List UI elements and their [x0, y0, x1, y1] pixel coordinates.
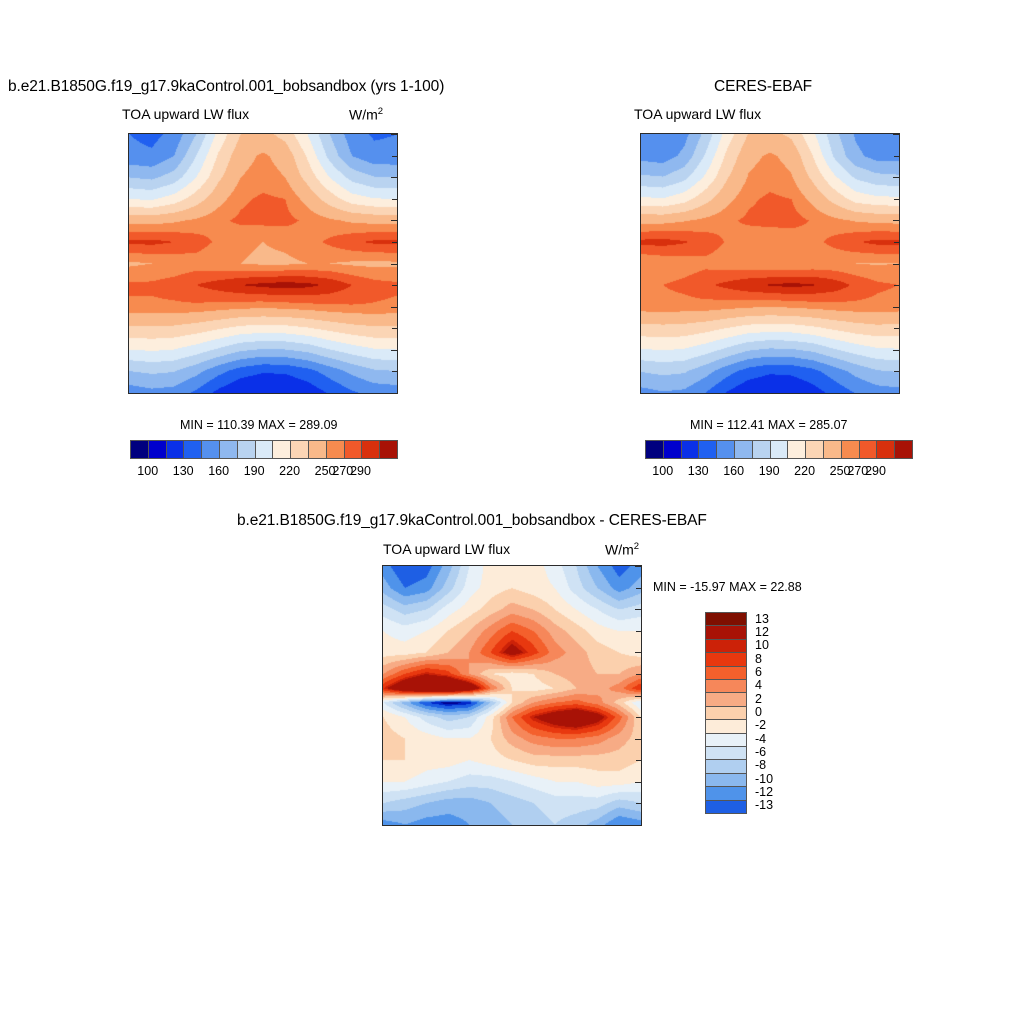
panel-obs-xtick-mark-top — [749, 133, 750, 134]
panel-difference-xtick-mark-top — [426, 565, 427, 566]
panel-obs-ytick-mark — [640, 393, 641, 394]
panel-model-xtick-mark — [151, 393, 152, 394]
panel-model-colorbar-swatch — [220, 441, 238, 458]
panel-obs-plot: 90N60N30N030S60S90SJFMAMJJASONDJ — [640, 133, 900, 394]
panel-model-colorbar-tick-label: 160 — [208, 464, 229, 478]
panel-difference-minmax: MIN = -15.97 MAX = 22.88 — [653, 580, 802, 594]
panel-model-ytick-minor-right — [392, 242, 397, 243]
panel-model-xtick-mark-top — [308, 133, 309, 134]
panel-difference-xtick-mark-top — [491, 565, 492, 566]
panel-obs-colorbar-swatch — [771, 441, 789, 458]
panel-obs-colorbar-tick-label: 160 — [723, 464, 744, 478]
panel-model-colorbar-swatch — [273, 441, 291, 458]
panel-obs-title: CERES-EBAF — [714, 78, 812, 96]
panel-model-contour-field — [129, 134, 397, 393]
panel-difference-title: b.e21.B1850G.f19_g17.9kaControl.001_bobs… — [237, 512, 707, 530]
panel-model-colorbar-tick-label: 290 — [350, 464, 371, 478]
panel-obs-contour-field — [641, 134, 899, 393]
difference-colorbar-tick-label: -8 — [755, 758, 766, 772]
difference-colorbar-tick-label: -12 — [755, 785, 773, 799]
panel-difference-xtick-mark — [555, 825, 556, 826]
difference-colorbar-tick-label: 10 — [755, 638, 769, 652]
panel-model-ytick-minor — [128, 328, 129, 329]
panel-model-ytick-mark — [128, 264, 129, 265]
panel-model-ytick-minor — [128, 242, 129, 243]
panel-model-minmax: MIN = 110.39 MAX = 289.09 — [180, 418, 338, 432]
difference-colorbar-tick-label: 4 — [755, 678, 762, 692]
panel-difference-ytick-minor — [382, 631, 383, 632]
panel-difference-xtick-mark-top — [620, 565, 621, 566]
panel-obs-colorbar-swatch — [664, 441, 682, 458]
panel-obs-ytick-minor-right — [894, 156, 899, 157]
panel-obs-xtick-mark — [706, 393, 707, 394]
panel-obs-xtick-mark-top — [727, 133, 728, 134]
difference-colorbar-swatch — [706, 707, 746, 720]
panel-obs-colorbar-swatch — [735, 441, 753, 458]
panel-model-plot: 90N60N30N030S60S90SJFMAMJJASONDJ — [128, 133, 398, 394]
panel-model-xtick-mark — [218, 393, 219, 394]
panel-model-colorbar — [130, 440, 398, 459]
panel-obs-colorbar-swatch — [699, 441, 717, 458]
panel-difference-xtick-mark-top — [469, 565, 470, 566]
difference-colorbar-swatch — [706, 801, 746, 813]
panel-obs-xtick-mark-top — [792, 133, 793, 134]
panel-obs-xtick-mark — [899, 393, 900, 394]
difference-colorbar-tick-label: -6 — [755, 745, 766, 759]
panel-difference-xtick-mark — [512, 825, 513, 826]
panel-model-xtick-mark — [263, 393, 264, 394]
panel-obs-ytick-minor-right — [894, 199, 899, 200]
panel-obs-colorbar-swatch — [646, 441, 664, 458]
difference-colorbar-tick-label: 6 — [755, 665, 762, 679]
panel-obs-colorbar-tick-label: 290 — [865, 464, 886, 478]
panel-model-ytick-minor — [128, 285, 129, 286]
panel-difference-ytick-mark-right — [635, 782, 641, 783]
panel-model-xtick-mark — [375, 393, 376, 394]
panel-obs-ytick-mark-right — [893, 134, 899, 135]
panel-difference-ytick-mark-right — [635, 566, 641, 567]
panel-obs-ytick-minor-right — [894, 328, 899, 329]
panel-model-xtick-mark — [129, 393, 130, 394]
panel-obs-xtick-mark — [727, 393, 728, 394]
panel-model-units-label: W/m2 — [349, 106, 383, 123]
panel-obs-ytick-minor — [640, 328, 641, 329]
difference-colorbar-swatch — [706, 760, 746, 773]
panel-difference-ytick-minor-right — [636, 803, 641, 804]
panel-obs-colorbar-swatch — [717, 441, 735, 458]
panel-obs-ytick-mark — [640, 350, 641, 351]
panel-model-colorbar-swatch — [184, 441, 202, 458]
panel-model-xtick-mark-top — [241, 133, 242, 134]
panel-obs-xtick-mark — [770, 393, 771, 394]
panel-difference-ytick-minor — [382, 717, 383, 718]
panel-difference-ytick-minor-right — [636, 717, 641, 718]
panel-difference-xtick-mark-top — [383, 565, 384, 566]
panel-difference-ytick-minor-right — [636, 674, 641, 675]
panel-difference-ytick-mark-right — [635, 825, 641, 826]
panel-model-xtick-mark-top — [151, 133, 152, 134]
panel-difference-ytick-mark — [382, 652, 383, 653]
panel-obs-xtick-mark — [749, 393, 750, 394]
panel-difference-xtick-mark-top — [577, 565, 578, 566]
difference-colorbar-swatch — [706, 626, 746, 639]
panel-model-ytick-minor — [128, 371, 129, 372]
panel-obs-xtick-mark-top — [856, 133, 857, 134]
panel-obs-ytick-minor — [640, 242, 641, 243]
panel-model-ytick-mark-right — [391, 350, 397, 351]
panel-model-colorbar-swatch — [362, 441, 380, 458]
panel-model-xtick-mark-top — [397, 133, 398, 134]
panel-model-colorbar-swatch — [309, 441, 327, 458]
panel-model-ytick-mark — [128, 350, 129, 351]
panel-obs-ytick-mark — [640, 264, 641, 265]
panel-model-xtick-mark — [241, 393, 242, 394]
panel-difference-ytick-mark — [382, 739, 383, 740]
difference-colorbar-swatch — [706, 774, 746, 787]
panel-difference-xtick-mark-top — [598, 565, 599, 566]
panel-difference-xtick-mark — [641, 825, 642, 826]
panel-model-ytick-mark-right — [391, 177, 397, 178]
panel-obs-ytick-mark-right — [893, 264, 899, 265]
difference-colorbar-swatch — [706, 693, 746, 706]
panel-difference-ytick-mark — [382, 825, 383, 826]
panel-obs-colorbar-swatch — [824, 441, 842, 458]
panel-obs-ytick-mark — [640, 220, 641, 221]
panel-obs-ytick-mark — [640, 177, 641, 178]
difference-colorbar-swatch — [706, 653, 746, 666]
panel-model-ytick-mark — [128, 307, 129, 308]
panel-difference-xtick-mark — [426, 825, 427, 826]
panel-model-ytick-minor-right — [392, 285, 397, 286]
difference-colorbar-swatch — [706, 734, 746, 747]
panel-obs-colorbar-swatch — [842, 441, 860, 458]
panel-difference-ytick-mark — [382, 566, 383, 567]
panel-difference-units-label: W/m2 — [605, 541, 639, 558]
panel-difference-colorbar — [705, 612, 747, 814]
difference-colorbar-tick-label: 8 — [755, 652, 762, 666]
difference-colorbar-swatch — [706, 720, 746, 733]
panel-difference-xtick-mark — [534, 825, 535, 826]
panel-obs-colorbar-tick-label: 100 — [652, 464, 673, 478]
panel-model-xtick-mark — [174, 393, 175, 394]
difference-colorbar-tick-label: 12 — [755, 625, 769, 639]
panel-obs-xtick-mark-top — [706, 133, 707, 134]
panel-difference-xtick-mark-top — [448, 565, 449, 566]
panel-model-colorbar-tick-label: 190 — [244, 464, 265, 478]
panel-model-ytick-mark — [128, 393, 129, 394]
panel-model-ytick-mark-right — [391, 264, 397, 265]
panel-model-xtick-mark-top — [330, 133, 331, 134]
panel-difference-ytick-mark-right — [635, 652, 641, 653]
panel-obs-colorbar-tick-label: 220 — [794, 464, 815, 478]
panel-model-title: b.e21.B1850G.f19_g17.9kaControl.001_bobs… — [8, 78, 444, 96]
panel-model-ytick-mark-right — [391, 220, 397, 221]
panel-difference-xtick-mark-top — [641, 565, 642, 566]
panel-difference-xtick-mark — [448, 825, 449, 826]
panel-model-ytick-mark — [128, 220, 129, 221]
panel-model-xtick-mark-top — [196, 133, 197, 134]
panel-obs-colorbar-swatch — [682, 441, 700, 458]
panel-model-xtick-mark-top — [129, 133, 130, 134]
panel-model-ytick-minor — [128, 199, 129, 200]
panel-difference-ytick-minor — [382, 588, 383, 589]
panel-obs-xtick-mark — [813, 393, 814, 394]
panel-difference-xtick-mark — [469, 825, 470, 826]
panel-obs-xtick-mark-top — [641, 133, 642, 134]
panel-model-ytick-mark-right — [391, 307, 397, 308]
panel-obs-colorbar-swatch — [895, 441, 912, 458]
panel-obs-ytick-mark-right — [893, 307, 899, 308]
panel-obs-ytick-minor-right — [894, 242, 899, 243]
difference-colorbar-tick-label: -4 — [755, 732, 766, 746]
panel-model-xtick-mark-top — [285, 133, 286, 134]
panel-model-xtick-mark-top — [263, 133, 264, 134]
panel-obs-xtick-mark — [792, 393, 793, 394]
panel-difference-ytick-mark-right — [635, 739, 641, 740]
panel-model-colorbar-swatch — [327, 441, 345, 458]
panel-obs-ytick-mark-right — [893, 350, 899, 351]
panel-model-ytick-minor-right — [392, 156, 397, 157]
panel-model-ytick-mark-right — [391, 393, 397, 394]
panel-model-xtick-mark — [397, 393, 398, 394]
panel-model-ytick-mark-right — [391, 134, 397, 135]
panel-model-ytick-minor-right — [392, 199, 397, 200]
panel-obs-ytick-minor-right — [894, 285, 899, 286]
panel-model-xtick-mark — [330, 393, 331, 394]
panel-obs-colorbar-tick-label: 130 — [688, 464, 709, 478]
panel-model-colorbar-swatch — [238, 441, 256, 458]
panel-model-xtick-mark — [308, 393, 309, 394]
panel-model-ytick-minor — [128, 156, 129, 157]
panel-obs-ytick-mark — [640, 134, 641, 135]
panel-model-colorbar-swatch — [167, 441, 185, 458]
panel-difference-ytick-minor — [382, 674, 383, 675]
panel-obs-ytick-minor-right — [894, 371, 899, 372]
panel-difference-ytick-minor-right — [636, 588, 641, 589]
panel-difference-plot: 90N60N30N030S60S90SJFMAMJJASONDJ — [382, 565, 642, 826]
panel-obs-ytick-minor — [640, 199, 641, 200]
panel-model-ytick-mark — [128, 134, 129, 135]
panel-obs-xtick-mark — [878, 393, 879, 394]
panel-obs-ytick-mark-right — [893, 220, 899, 221]
difference-colorbar-tick-label: 2 — [755, 692, 762, 706]
panel-obs-minmax: MIN = 112.41 MAX = 285.07 — [690, 418, 848, 432]
panel-obs-colorbar-swatch — [860, 441, 878, 458]
panel-difference-xtick-mark — [598, 825, 599, 826]
panel-obs-xtick-mark-top — [770, 133, 771, 134]
panel-model-ytick-minor-right — [392, 371, 397, 372]
panel-model-xtick-mark-top — [352, 133, 353, 134]
panel-model-xtick-mark — [196, 393, 197, 394]
difference-colorbar-swatch — [706, 640, 746, 653]
panel-model-colorbar-swatch — [380, 441, 397, 458]
panel-model-variable-label: TOA upward LW flux — [122, 106, 249, 122]
panel-model-colorbar-swatch — [256, 441, 274, 458]
panel-difference-ytick-mark-right — [635, 696, 641, 697]
panel-obs-xtick-mark — [684, 393, 685, 394]
panel-obs-xtick-mark-top — [899, 133, 900, 134]
panel-model-ytick-mark — [128, 177, 129, 178]
panel-model-xtick-mark-top — [174, 133, 175, 134]
panel-difference-xtick-mark — [491, 825, 492, 826]
difference-colorbar-swatch — [706, 613, 746, 626]
difference-colorbar-tick-label: -2 — [755, 718, 766, 732]
difference-colorbar-swatch — [706, 787, 746, 800]
panel-difference-xtick-mark — [620, 825, 621, 826]
panel-difference-xtick-mark-top — [405, 565, 406, 566]
panel-difference-ytick-minor-right — [636, 760, 641, 761]
panel-model-ytick-minor-right — [392, 328, 397, 329]
panel-difference-xtick-mark — [383, 825, 384, 826]
panel-obs-colorbar-swatch — [877, 441, 895, 458]
panel-model-colorbar-tick-label: 220 — [279, 464, 300, 478]
panel-difference-xtick-mark-top — [555, 565, 556, 566]
panel-obs-colorbar-swatch — [788, 441, 806, 458]
panel-difference-xtick-mark — [577, 825, 578, 826]
panel-obs-ytick-minor — [640, 285, 641, 286]
panel-model-xtick-mark — [285, 393, 286, 394]
panel-model-colorbar-tick-label: 100 — [137, 464, 158, 478]
panel-obs-ytick-mark-right — [893, 177, 899, 178]
panel-difference-ytick-minor — [382, 803, 383, 804]
panel-obs-xtick-mark — [641, 393, 642, 394]
panel-obs-xtick-mark-top — [684, 133, 685, 134]
panel-model-colorbar-swatch — [131, 441, 149, 458]
panel-difference-ytick-minor-right — [636, 631, 641, 632]
panel-difference-ytick-mark-right — [635, 609, 641, 610]
panel-obs-colorbar — [645, 440, 913, 459]
difference-colorbar-tick-label: -10 — [755, 772, 773, 786]
panel-difference-xtick-mark — [405, 825, 406, 826]
panel-obs-xtick-mark-top — [835, 133, 836, 134]
difference-colorbar-swatch — [706, 680, 746, 693]
panel-obs-ytick-minor — [640, 156, 641, 157]
panel-obs-ytick-mark-right — [893, 393, 899, 394]
panel-difference-contour-field — [383, 566, 641, 825]
panel-model-xtick-mark — [352, 393, 353, 394]
panel-obs-colorbar-swatch — [806, 441, 824, 458]
panel-model-colorbar-swatch — [345, 441, 363, 458]
panel-difference-ytick-mark — [382, 696, 383, 697]
panel-difference-variable-label: TOA upward LW flux — [383, 541, 510, 557]
panel-model-xtick-mark-top — [218, 133, 219, 134]
panel-obs-colorbar-tick-label: 190 — [759, 464, 780, 478]
difference-colorbar-tick-label: 0 — [755, 705, 762, 719]
panel-obs-xtick-mark-top — [878, 133, 879, 134]
difference-colorbar-tick-label: -13 — [755, 798, 773, 812]
panel-model-colorbar-swatch — [291, 441, 309, 458]
panel-obs-xtick-mark — [835, 393, 836, 394]
panel-obs-variable-label: TOA upward LW flux — [634, 106, 761, 122]
panel-difference-ytick-minor — [382, 760, 383, 761]
panel-obs-colorbar-swatch — [753, 441, 771, 458]
panel-obs-xtick-mark-top — [663, 133, 664, 134]
panel-obs-xtick-mark-top — [813, 133, 814, 134]
difference-colorbar-swatch — [706, 667, 746, 680]
panel-difference-ytick-mark — [382, 609, 383, 610]
panel-obs-ytick-mark — [640, 307, 641, 308]
difference-colorbar-tick-label: 13 — [755, 612, 769, 626]
panel-obs-xtick-mark — [856, 393, 857, 394]
difference-colorbar-swatch — [706, 747, 746, 760]
panel-model-colorbar-swatch — [202, 441, 220, 458]
panel-model-colorbar-swatch — [149, 441, 167, 458]
panel-difference-xtick-mark-top — [534, 565, 535, 566]
panel-obs-ytick-minor — [640, 371, 641, 372]
panel-model-xtick-mark-top — [375, 133, 376, 134]
panel-model-colorbar-tick-label: 130 — [173, 464, 194, 478]
panel-obs-xtick-mark — [663, 393, 664, 394]
panel-difference-xtick-mark-top — [512, 565, 513, 566]
panel-difference-ytick-mark — [382, 782, 383, 783]
